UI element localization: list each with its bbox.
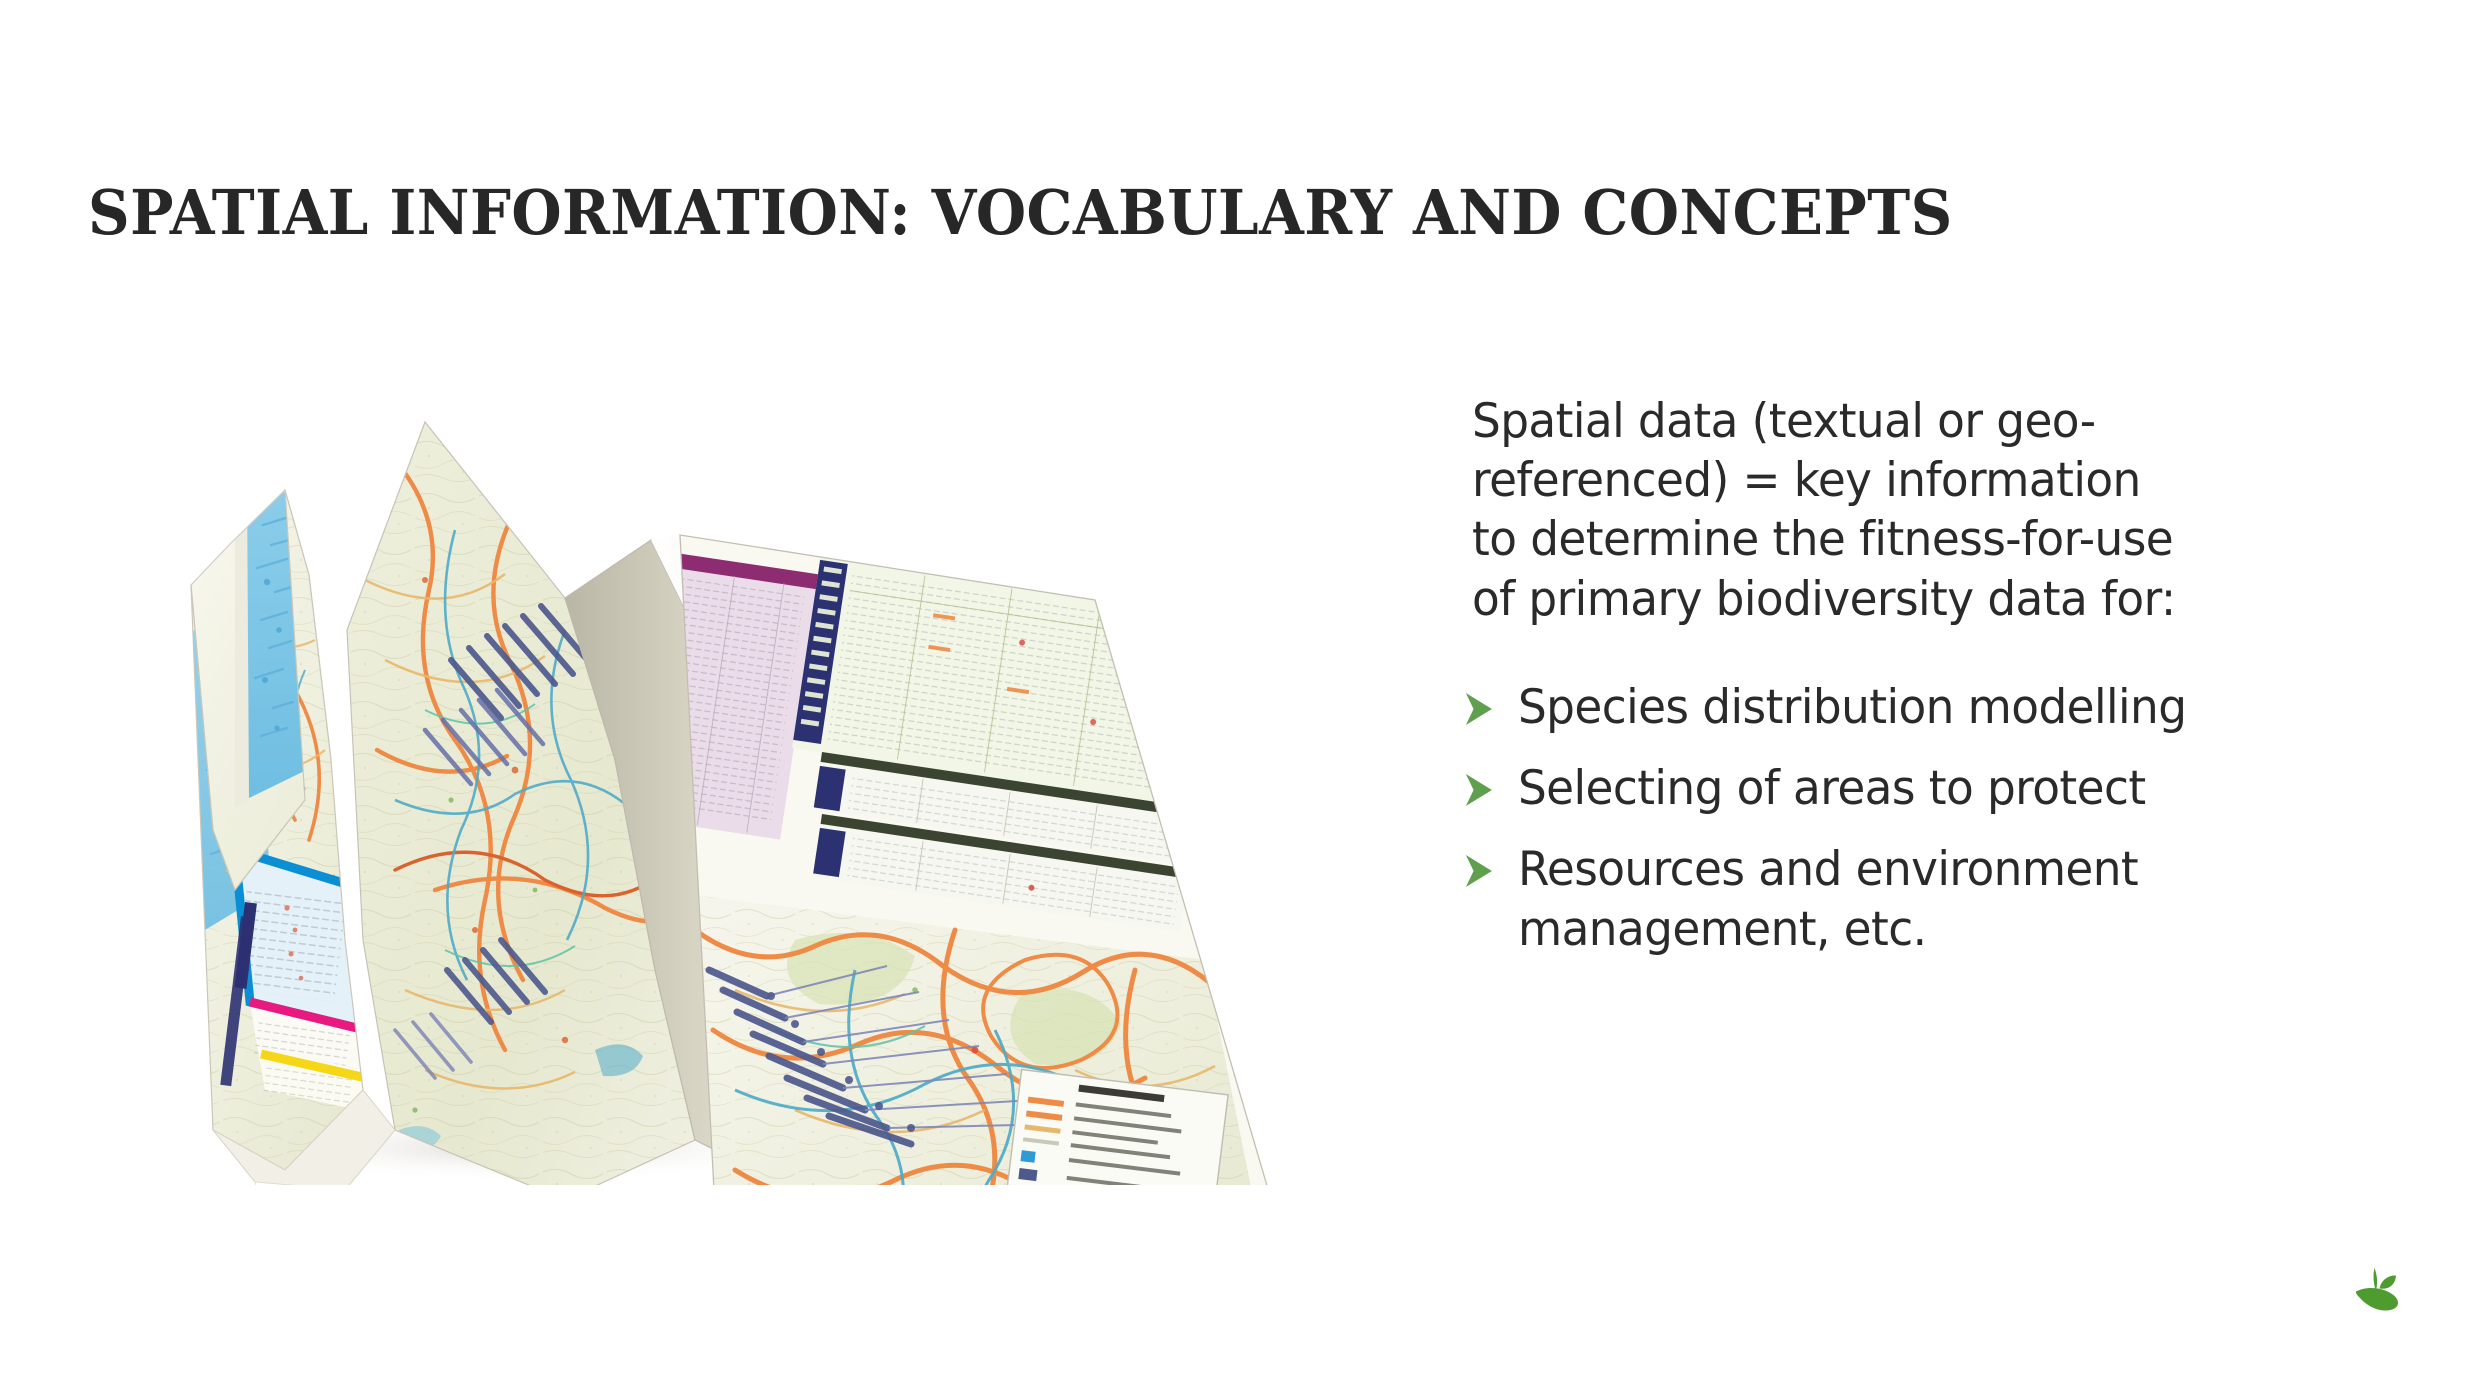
list-item-label: Species distribution modelling: [1518, 680, 2186, 735]
sprout-leaf-logo: [2348, 1262, 2410, 1324]
list-item-label: Selecting of areas to protect: [1518, 761, 2146, 816]
folded-map-illustration: [95, 330, 1310, 1185]
bullet-list: Species distribution modelling Selecting…: [1462, 678, 2222, 981]
list-item: Resources and environment management, et…: [1462, 840, 2195, 958]
green-arrow-bullet-icon: [1462, 684, 1495, 724]
green-arrow-bullet-icon: [1462, 846, 1495, 886]
page-title: SPATIAL INFORMATION: VOCABULARY AND CONC…: [88, 180, 2041, 245]
list-item-label: Resources and environment management, et…: [1518, 842, 2138, 956]
slide-canvas: SPATIAL INFORMATION: VOCABULARY AND CONC…: [0, 0, 2480, 1395]
list-item: Species distribution modelling: [1462, 678, 2195, 737]
list-item: Selecting of areas to protect: [1462, 759, 2195, 818]
body-text-column: Spatial data (textual or geo-referenced)…: [1472, 392, 2212, 629]
lead-paragraph: Spatial data (textual or geo-referenced)…: [1472, 392, 2186, 629]
green-arrow-bullet-icon: [1462, 765, 1495, 805]
